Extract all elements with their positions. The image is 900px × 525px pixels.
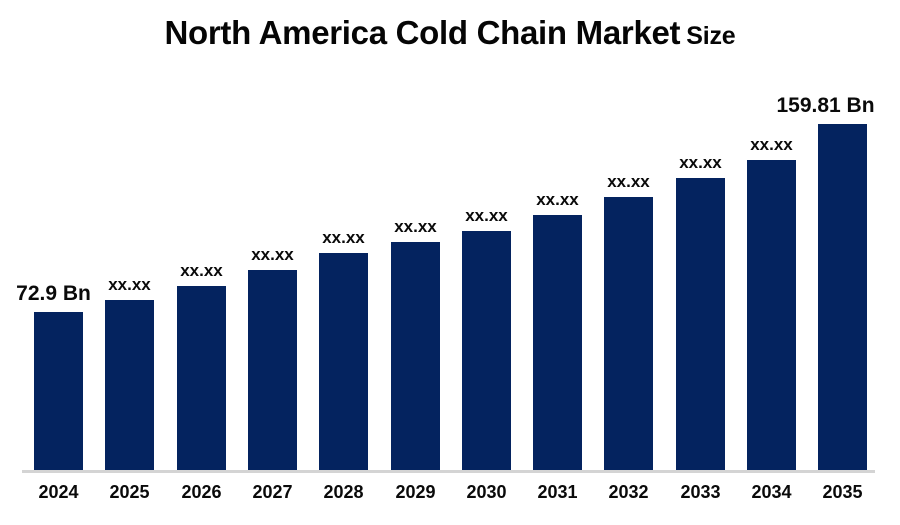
bar-2031: [533, 215, 582, 470]
bar-2024: [34, 312, 83, 470]
bar-chart-plot-area: 72.9 Bnxx.xxxx.xxxx.xxxx.xxxx.xxxx.xxxx.…: [0, 0, 900, 525]
bar-2032: [604, 197, 653, 470]
bar-2029: [391, 242, 440, 470]
bar-value-label-2027: xx.xx: [228, 246, 318, 263]
bar-value-label-2031: xx.xx: [513, 191, 603, 208]
bar-value-label-2032: xx.xx: [584, 173, 674, 190]
bar-2035: [818, 124, 867, 470]
bar-2025: [105, 300, 154, 470]
bar-2027: [248, 270, 297, 470]
x-tick-2027: 2027: [238, 483, 308, 501]
bar-2034: [747, 160, 796, 470]
x-tick-2034: 2034: [737, 483, 807, 501]
x-tick-2032: 2032: [594, 483, 664, 501]
bar-value-label-2035: 159.81 Bn: [761, 95, 891, 116]
bar-value-label-2026: xx.xx: [157, 262, 247, 279]
bar-2030: [462, 231, 511, 470]
x-tick-2033: 2033: [666, 483, 736, 501]
x-tick-2025: 2025: [95, 483, 165, 501]
x-axis-line: [22, 470, 875, 473]
x-tick-2028: 2028: [309, 483, 379, 501]
x-tick-2026: 2026: [167, 483, 237, 501]
x-tick-2030: 2030: [452, 483, 522, 501]
x-tick-2029: 2029: [381, 483, 451, 501]
bar-2026: [177, 286, 226, 470]
x-tick-2024: 2024: [24, 483, 94, 501]
bar-value-label-2034: xx.xx: [727, 136, 817, 153]
x-tick-2035: 2035: [808, 483, 878, 501]
bar-value-label-2030: xx.xx: [442, 207, 532, 224]
x-tick-2031: 2031: [523, 483, 593, 501]
bar-2028: [319, 253, 368, 470]
bar-2033: [676, 178, 725, 470]
bar-value-label-2033: xx.xx: [656, 154, 746, 171]
chart-page: North America Cold Chain MarketSize 72.9…: [0, 0, 900, 525]
